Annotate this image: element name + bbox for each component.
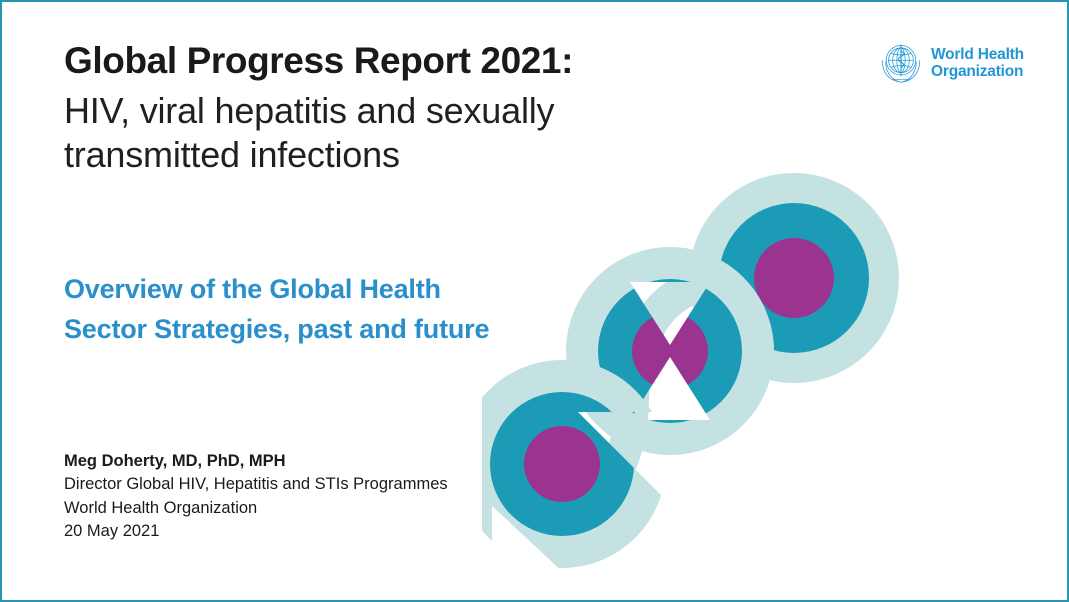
page-subtitle-line2: transmitted infections [64, 133, 684, 177]
author-date: 20 May 2021 [64, 520, 584, 543]
overview-line2: Sector Strategies, past and future [64, 310, 624, 350]
who-wordmark-line1: World Health [931, 46, 1024, 63]
top-circle [689, 173, 899, 383]
page-title: Global Progress Report 2021: [64, 40, 684, 83]
who-emblem-icon [878, 40, 924, 86]
author-role: Director Global HIV, Hepatitis and STIs … [64, 473, 584, 496]
who-logo: World Health Organization [878, 40, 1024, 86]
overview-line1: Overview of the Global Health [64, 270, 624, 310]
page-subtitle-line1: HIV, viral hepatitis and sexually [64, 89, 684, 133]
slide-root: World Health Organization Global Progres… [0, 0, 1069, 602]
who-wordmark-line2: Organization [931, 63, 1024, 80]
who-wordmark: World Health Organization [931, 46, 1024, 81]
overview-heading: Overview of the Global Health Sector Str… [64, 270, 624, 350]
title-block: Global Progress Report 2021: HIV, viral … [64, 40, 684, 177]
author-organization: World Health Organization [64, 497, 584, 520]
author-name: Meg Doherty, MD, PhD, MPH [64, 450, 584, 473]
author-block: Meg Doherty, MD, PhD, MPH Director Globa… [64, 450, 584, 544]
